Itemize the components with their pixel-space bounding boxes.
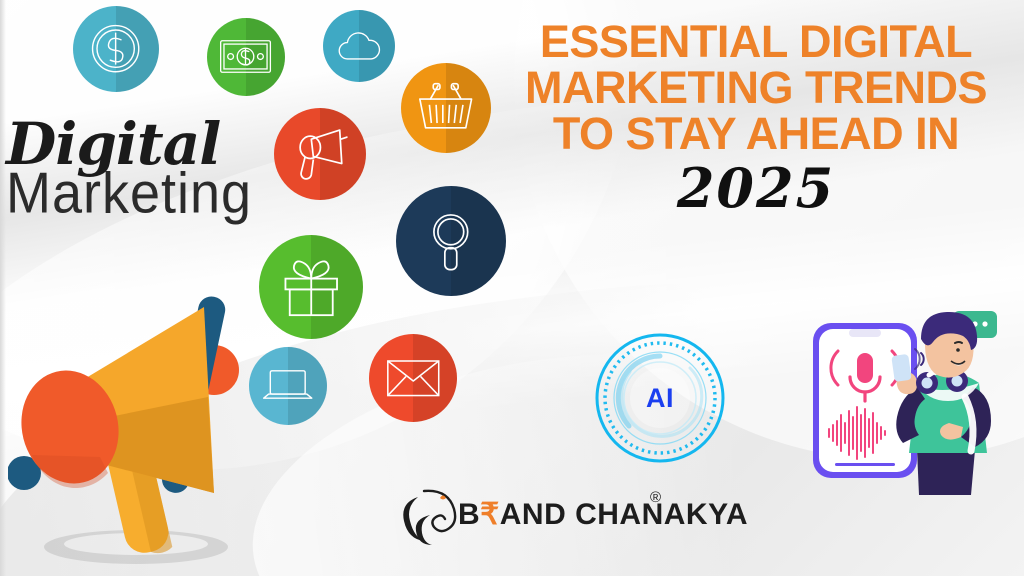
voice-search-illustration (805, 305, 1020, 495)
headline-year: 2025 (506, 162, 1006, 215)
megaphone-illustration (8, 285, 258, 570)
ai-badge-label: AI (592, 330, 728, 466)
magnifier-icon (396, 186, 506, 296)
gift-icon (259, 235, 363, 339)
cloud-icon (323, 10, 395, 82)
banknote-icon (207, 18, 285, 96)
wordmark-marketing: Marketing (6, 167, 266, 221)
logo-rupee-symbol: ₹ (480, 498, 500, 531)
logo-face-mark (403, 491, 455, 545)
logo-text-before: B (458, 498, 480, 531)
registered-trademark-icon: ® (650, 489, 661, 506)
brand-chanakya-logo[interactable]: B₹AND CHANAKYA ® (398, 485, 688, 547)
left-edge-shade (0, 0, 6, 576)
headline-line-2: MARKETING TRENDS (506, 66, 1006, 110)
megaphone-icon (274, 108, 366, 200)
headline-block: ESSENTIAL DIGITAL MARKETING TRENDS TO ST… (506, 20, 1006, 215)
coin-dollar-icon (73, 6, 159, 92)
digital-marketing-wordmark: Digital Marketing (6, 118, 266, 219)
laptop-icon (249, 347, 327, 425)
marketing-banner: ESSENTIAL DIGITAL MARKETING TRENDS TO ST… (0, 0, 1024, 576)
headline-line-3: TO STAY AHEAD IN (506, 112, 1006, 156)
logo-text-after: AND CHANAKYA (500, 498, 748, 531)
headline-line-1: ESSENTIAL DIGITAL (506, 20, 1006, 64)
ai-badge: AI (592, 330, 728, 466)
envelope-icon (369, 334, 457, 422)
logo-text: B₹AND CHANAKYA (458, 497, 748, 532)
shopping-basket-icon (401, 63, 491, 153)
